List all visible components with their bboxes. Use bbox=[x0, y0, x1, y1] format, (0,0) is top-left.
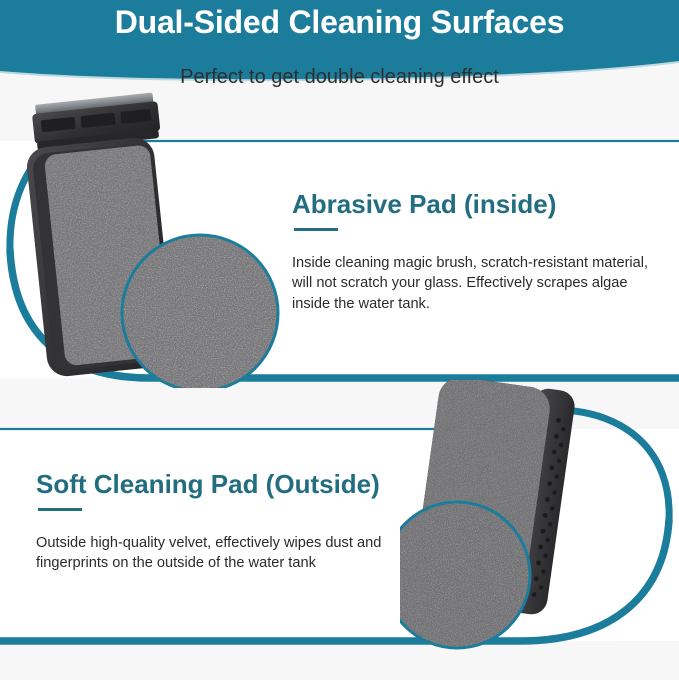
soft-pad-heading-rule bbox=[38, 508, 82, 511]
abrasive-body-text: Inside cleaning magic brush, scratch-res… bbox=[292, 253, 652, 315]
abrasive-heading-rule bbox=[294, 228, 338, 231]
abrasive-heading: Abrasive Pad (inside) bbox=[292, 190, 652, 219]
soft-pad-heading: Soft Cleaning Pad (Outside) bbox=[36, 470, 406, 499]
soft-pad-text-block: Soft Cleaning Pad (Outside) Outside high… bbox=[36, 470, 406, 574]
page-subtitle: Perfect to get double cleaning effect bbox=[0, 66, 679, 89]
infographic-page: Dual-Sided Cleaning Surfaces Perfect to … bbox=[0, 0, 679, 680]
abrasive-text-block: Abrasive Pad (inside) Inside cleaning ma… bbox=[292, 190, 652, 315]
product-image-soft-pad bbox=[400, 380, 679, 652]
soft-pad-body-text: Outside high-quality velvet, effectively… bbox=[36, 533, 406, 574]
product-image-abrasive bbox=[20, 88, 310, 388]
page-title: Dual-Sided Cleaning Surfaces bbox=[0, 4, 679, 41]
